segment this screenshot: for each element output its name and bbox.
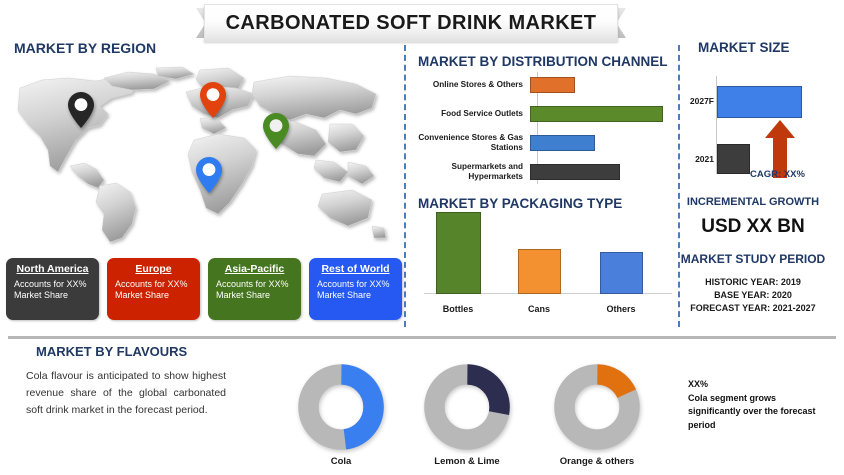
donut-chart-orange-others[interactable] (554, 364, 640, 450)
infographic-root: CARBONATED SOFT DRINK MARKET MARKET BY R… (0, 0, 844, 475)
distribution-track (530, 101, 674, 127)
distribution-bar-supermarkets[interactable] (530, 164, 620, 180)
distribution-row-supermarkets: Supermarkets and Hypermarkets (412, 159, 674, 185)
packaging-bar-bottles[interactable] (436, 212, 481, 294)
study-period-forecast: FORECAST YEAR: 2021-2027 (664, 302, 842, 315)
cagr-label: CAGR: XX% (750, 169, 805, 180)
region-name: North America (14, 264, 91, 276)
map-pin-europe[interactable] (200, 82, 226, 118)
distribution-track (530, 130, 674, 156)
study-period-heading: MARKET STUDY PERIOD (664, 252, 842, 266)
section-heading-market-size: MARKET SIZE (698, 40, 790, 55)
region-name: Europe (115, 264, 192, 276)
distribution-label: Online Stores & Others (412, 80, 530, 90)
study-period-historic: HISTORIC YEAR: 2019 (664, 276, 842, 289)
distribution-label: Supermarkets and Hypermarkets (412, 162, 530, 182)
study-period-base: BASE YEAR: 2020 (664, 289, 842, 302)
section-heading-distribution: MARKET BY DISTRIBUTION CHANNEL (418, 54, 668, 69)
region-name: Rest of World (317, 264, 394, 276)
market-size-ylabel-2027f: 2027F (686, 96, 714, 106)
flavours-note-line-1: XX% (688, 378, 838, 392)
flavours-note-line-2: Cola segment grows (688, 392, 838, 406)
map-pin-north-america[interactable] (68, 92, 94, 128)
distribution-label: Food Service Outlets (412, 109, 530, 119)
page-title: CARBONATED SOFT DRINK MARKET (204, 4, 618, 42)
divider-horizontal (8, 336, 836, 339)
incremental-growth-label: INCREMENTAL GROWTH (664, 196, 842, 208)
region-share-line1: Accounts for XX% (216, 279, 293, 290)
section-heading-packaging: MARKET BY PACKAGING TYPE (418, 196, 622, 211)
region-card-rest-of-world[interactable]: Rest of World Accounts for XX% Market Sh… (309, 258, 402, 320)
map-pin-rest-of-world[interactable] (196, 157, 222, 193)
region-share-line2: Market Share (317, 290, 394, 301)
market-size-ylabel-2021: 2021 (686, 154, 714, 164)
packaging-label-bottles: Bottles (418, 304, 498, 314)
donut-label-lemon-lime: Lemon & Lime (407, 456, 527, 467)
packaging-column-chart: Bottles Cans Others (412, 216, 674, 316)
distribution-label: Convenience Stores & Gas Stations (412, 133, 530, 153)
region-share-line2: Market Share (216, 290, 293, 301)
region-share-line1: Accounts for XX% (14, 279, 91, 290)
market-size-bar-2027f[interactable] (717, 86, 802, 118)
title-banner: CARBONATED SOFT DRINK MARKET (196, 4, 626, 42)
region-card-asia-pacific[interactable]: Asia-Pacific Accounts for XX% Market Sha… (208, 258, 301, 320)
market-size-chart: 2027F 2021 CAGR: XX% (686, 72, 836, 182)
flavours-note: XX% Cola segment grows significantly ove… (688, 378, 838, 432)
region-card-north-america[interactable]: North America Accounts for XX% Market Sh… (6, 258, 99, 320)
distribution-bar-chart: Online Stores & Others Food Service Outl… (412, 72, 674, 184)
divider-left-dashed (404, 45, 406, 327)
section-heading-flavours: MARKET BY FLAVOURS (36, 344, 187, 359)
region-share-line2: Market Share (14, 290, 91, 301)
donut-chart-lemon-lime[interactable] (424, 364, 510, 450)
region-card-europe[interactable]: Europe Accounts for XX% Market Share (107, 258, 200, 320)
region-share-line1: Accounts for XX% (115, 279, 192, 290)
market-size-bar-2021[interactable] (717, 144, 750, 174)
incremental-growth-value: USD XX BN (664, 216, 842, 238)
packaging-label-others: Others (581, 304, 661, 314)
map-pin-asia-pacific[interactable] (263, 113, 289, 149)
distribution-bar-online-stores[interactable] (530, 77, 575, 93)
section-heading-region: MARKET BY REGION (14, 40, 156, 56)
region-card-list: North America Accounts for XX% Market Sh… (6, 258, 402, 320)
packaging-bar-others[interactable] (600, 252, 643, 294)
donut-label-orange-others: Orange & others (537, 456, 657, 467)
distribution-row-food-service: Food Service Outlets (412, 101, 674, 127)
distribution-bar-food-service[interactable] (530, 106, 663, 122)
region-name: Asia-Pacific (216, 264, 293, 276)
distribution-row-online-stores: Online Stores & Others (412, 72, 674, 98)
region-share-line1: Accounts for XX% (317, 279, 394, 290)
packaging-label-cans: Cans (499, 304, 579, 314)
distribution-track (530, 72, 674, 98)
distribution-row-convenience-stores: Convenience Stores & Gas Stations (412, 130, 674, 156)
page-title-text: CARBONATED SOFT DRINK MARKET (226, 12, 597, 35)
donut-label-cola: Cola (281, 456, 401, 467)
flavours-description: Cola flavour is anticipated to show high… (26, 368, 226, 419)
region-share-line2: Market Share (115, 290, 192, 301)
packaging-bar-cans[interactable] (518, 249, 561, 294)
flavours-note-line-3: significantly over the forecast (688, 405, 838, 419)
flavours-note-line-4: period (688, 419, 838, 433)
distribution-bar-convenience-stores[interactable] (530, 135, 595, 151)
donut-chart-cola[interactable] (298, 364, 384, 450)
distribution-track (530, 159, 674, 185)
